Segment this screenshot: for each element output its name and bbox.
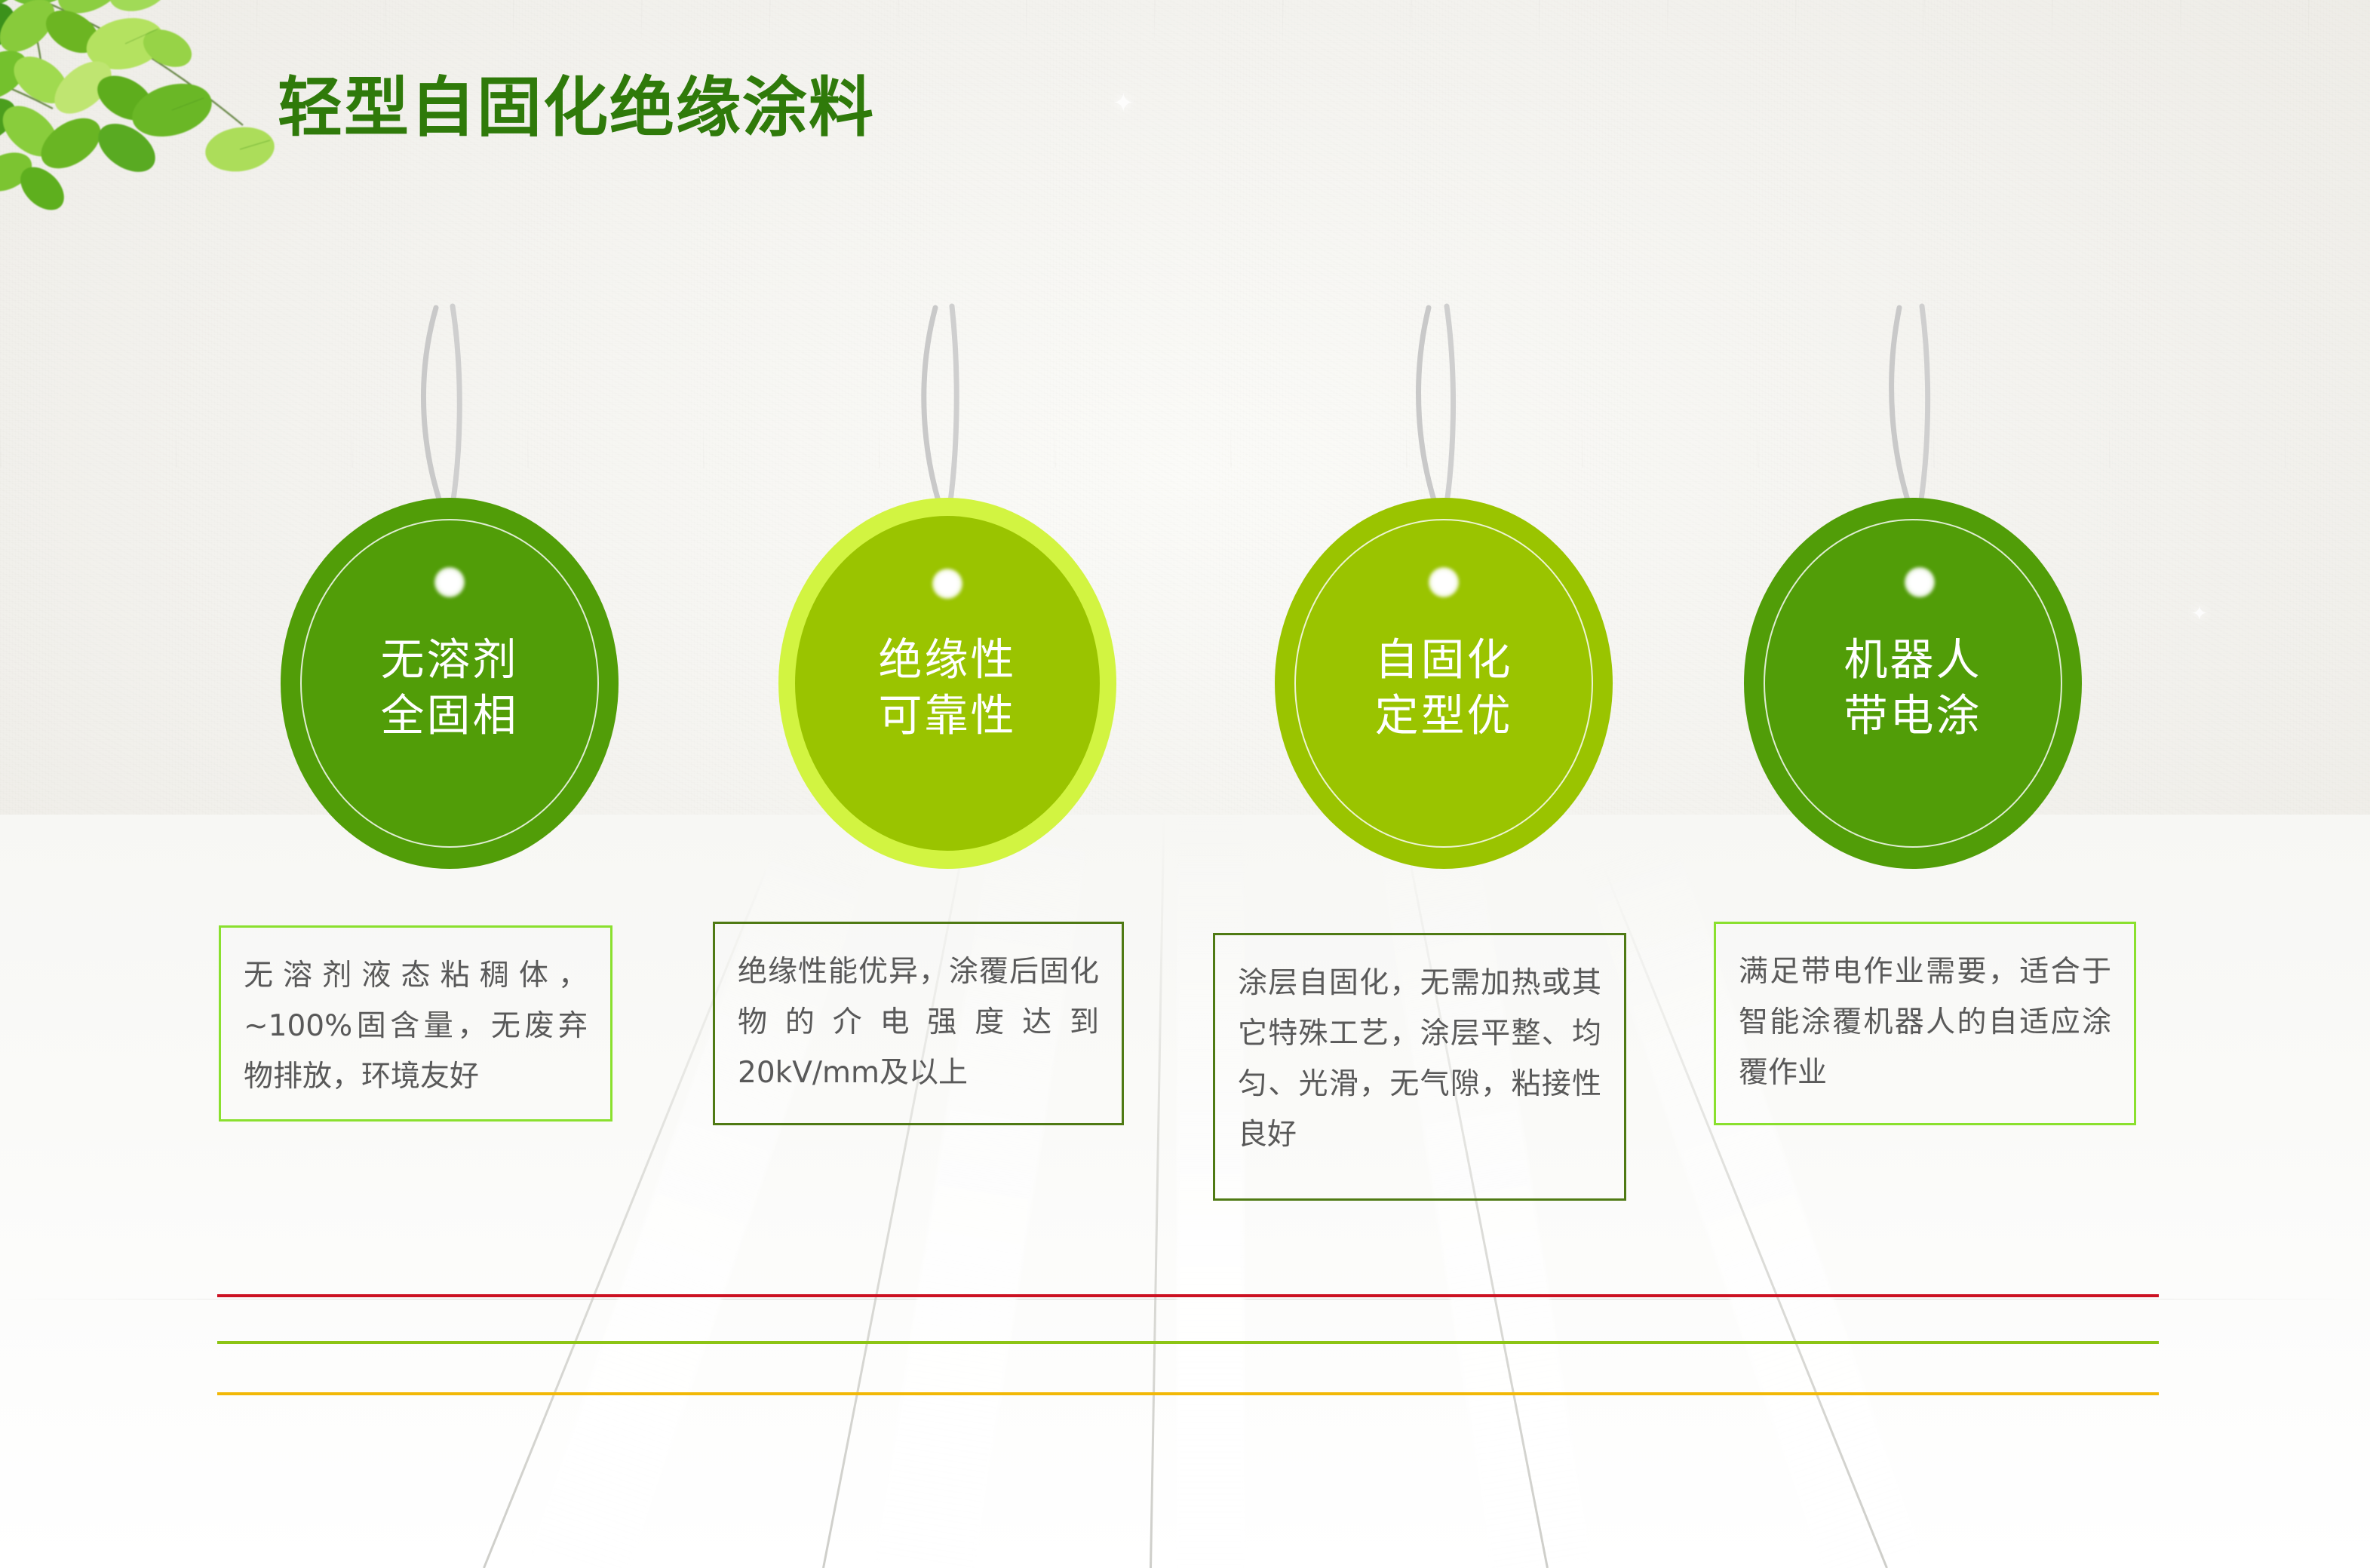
tag-label-line1: 自固化 (1275, 632, 1613, 688)
tag-label-4: 机器人 带电涂 (1744, 632, 2082, 744)
tag-punch-hole-icon-2 (932, 569, 962, 599)
tag-label-line1: 无溶剂 (281, 632, 619, 688)
description-box-3: 涂层自固化，无需加热或其它特殊工艺，涂层平整、均匀、光滑，无气隙，粘接性良好 (1213, 933, 1626, 1201)
tag-card-1[interactable]: 无溶剂 全固相 (281, 498, 619, 869)
tag-card-4[interactable]: 机器人 带电涂 (1744, 498, 2082, 869)
sparkle-icon-2: ✦ (2191, 603, 2208, 623)
hang-string-loop-icon (1853, 303, 1973, 529)
description-text: 绝缘性能优异，涂覆后固化物的介电强度达到20kV/mm及以上 (738, 955, 1099, 1090)
amber-divider-line (217, 1392, 2159, 1395)
tag-card-2[interactable]: 绝缘性 可靠性 (778, 498, 1116, 869)
tag-label-line2: 全固相 (281, 688, 619, 744)
tag-punch-hole-icon-4 (1905, 567, 1935, 597)
tag-label-line1: 绝缘性 (778, 632, 1116, 688)
description-box-2: 绝缘性能优异，涂覆后固化物的介电强度达到20kV/mm及以上 (713, 922, 1124, 1125)
tag-label-2: 绝缘性 可靠性 (778, 632, 1116, 744)
red-divider-line (217, 1294, 2159, 1297)
sparkle-icon-1: ✦ (1113, 91, 1134, 116)
description-text: 满足带电作业需要，适合于智能涂覆机器人的自适应涂覆作业 (1739, 955, 2111, 1090)
hang-string-loop-icon (887, 303, 1008, 529)
tag-label-1: 无溶剂 全固相 (281, 632, 619, 744)
page-title: 轻型自固化绝缘涂料 (278, 54, 875, 149)
tag-label-line2: 定型优 (1275, 688, 1613, 744)
tag-label-line1: 机器人 (1744, 632, 2082, 688)
tag-label-3: 自固化 定型优 (1275, 632, 1613, 744)
tag-label-line2: 可靠性 (778, 688, 1116, 744)
description-box-4: 满足带电作业需要，适合于智能涂覆机器人的自适应涂覆作业 (1714, 922, 2136, 1125)
description-text: 涂层自固化，无需加热或其它特殊工艺，涂层平整、均匀、光滑，无气隙，粘接性良好 (1238, 966, 1601, 1152)
hang-string-loop-icon (1383, 303, 1504, 529)
tag-punch-hole-icon-3 (1429, 567, 1459, 597)
description-box-1: 无溶剂液态粘稠体，~100%固含量，无废弃物排放，环境友好 (219, 925, 612, 1122)
green-divider-line (217, 1341, 2159, 1344)
hang-string-loop-icon (389, 303, 510, 529)
tag-card-3[interactable]: 自固化 定型优 (1275, 498, 1613, 869)
tag-punch-hole-icon-1 (434, 567, 465, 597)
tag-label-line2: 带电涂 (1744, 688, 2082, 744)
description-text: 无溶剂液态粘稠体，~100%固含量，无废弃物排放，环境友好 (244, 959, 588, 1094)
green-leaves-branch-icon (0, 0, 294, 241)
